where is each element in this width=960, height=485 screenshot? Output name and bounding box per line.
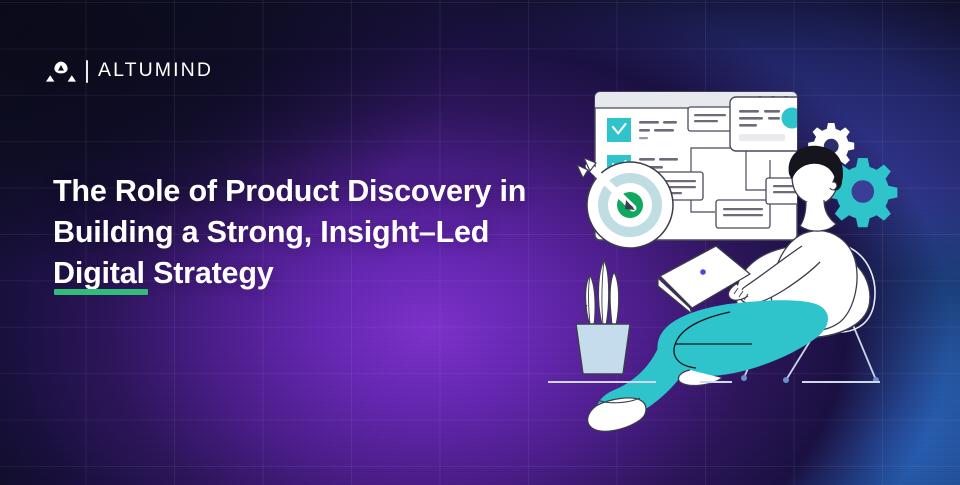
flow-box-3	[716, 200, 770, 228]
page-title: The Role of Product Discovery in Buildin…	[53, 171, 573, 294]
headline-line-2: Building a Strong, Insight–Led	[53, 212, 573, 253]
headline-line-1: The Role of Product Discovery in	[53, 171, 573, 212]
brand-logo[interactable]: ALTUMIND	[46, 56, 213, 86]
accent-bar	[54, 289, 148, 295]
headline-line-3: Digital Strategy	[53, 253, 573, 294]
product-discovery-illustration	[540, 60, 960, 405]
potted-plant	[576, 260, 630, 374]
hero-banner: ALTUMIND The Role of Product Discovery i…	[0, 0, 960, 485]
flow-box-2	[688, 107, 732, 131]
logo-divider-icon	[86, 60, 88, 83]
brand-name: ALTUMIND	[98, 61, 213, 81]
flow-card-main	[730, 97, 808, 151]
altumind-triangle-mark-icon	[46, 56, 76, 86]
